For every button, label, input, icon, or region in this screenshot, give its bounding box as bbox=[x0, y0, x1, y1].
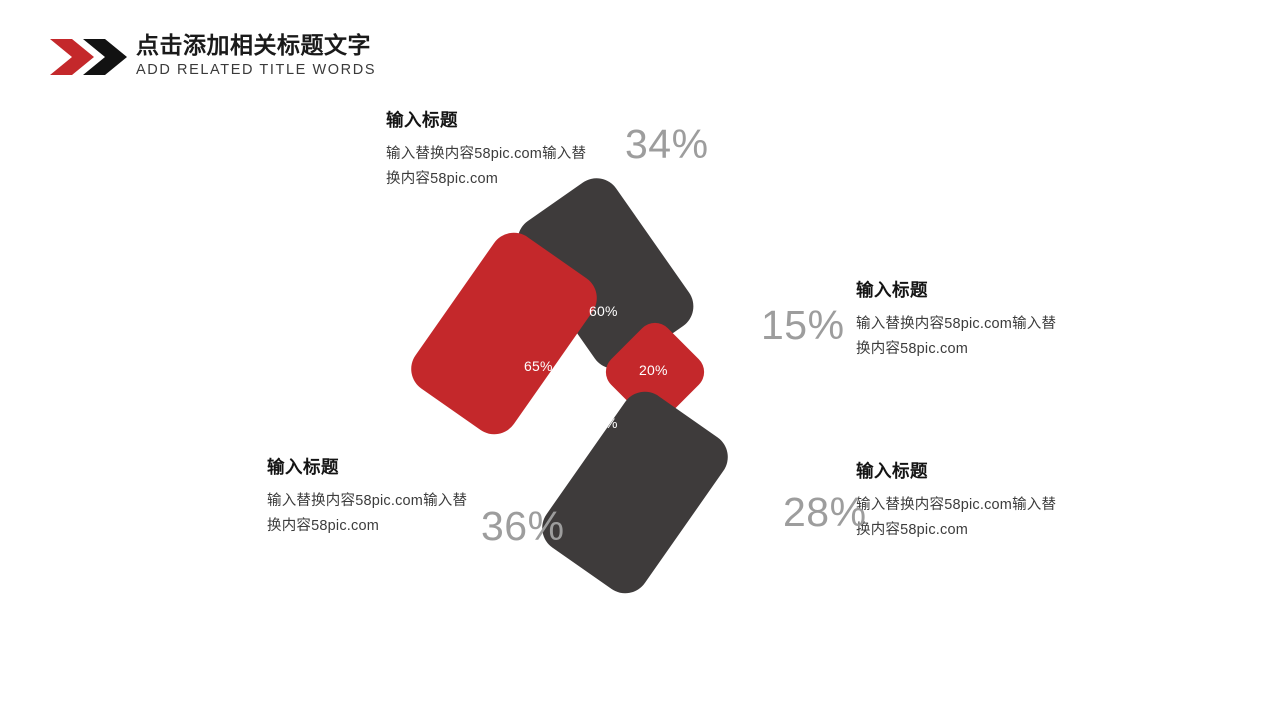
page-subtitle: ADD RELATED TITLE WORDS bbox=[136, 61, 376, 80]
info-block-top-left: 输入标题 输入替换内容58pic.com输入替换内容58pic.com bbox=[386, 110, 598, 192]
info-block-title: 输入标题 bbox=[386, 110, 598, 132]
info-block-title: 输入标题 bbox=[856, 280, 1068, 302]
shape-value-label-60: 60% bbox=[589, 303, 618, 319]
slide-header: 点击添加相关标题文字 ADD RELATED TITLE WORDS bbox=[50, 32, 376, 80]
percent-badge-36: 36% bbox=[481, 506, 565, 547]
info-block-body: 输入替换内容58pic.com输入替换内容58pic.com bbox=[386, 142, 598, 192]
info-block-title: 输入标题 bbox=[856, 461, 1068, 483]
info-block-body: 输入替换内容58pic.com输入替换内容58pic.com bbox=[856, 493, 1068, 543]
info-block-body: 输入替换内容58pic.com输入替换内容58pic.com bbox=[856, 312, 1068, 362]
double-chevron-icon bbox=[50, 35, 128, 79]
shape-dark-bottom[interactable] bbox=[533, 382, 737, 602]
percent-badge-15: 15% bbox=[761, 305, 845, 346]
info-block-bottom-left: 输入标题 输入替换内容58pic.com输入替换内容58pic.com bbox=[267, 457, 479, 539]
info-block-body: 输入替换内容58pic.com输入替换内容58pic.com bbox=[267, 489, 479, 539]
header-text-group: 点击添加相关标题文字 ADD RELATED TITLE WORDS bbox=[136, 32, 376, 80]
info-block-title: 输入标题 bbox=[267, 457, 479, 479]
info-block-bottom-right: 输入标题 输入替换内容58pic.com输入替换内容58pic.com bbox=[856, 461, 1068, 543]
percent-badge-34: 34% bbox=[625, 124, 709, 165]
shape-value-label-65: 65% bbox=[524, 358, 553, 374]
slide-canvas: 点击添加相关标题文字 ADD RELATED TITLE WORDS 60% 6… bbox=[0, 0, 1280, 720]
shape-value-label-20: 20% bbox=[639, 362, 668, 378]
page-title: 点击添加相关标题文字 bbox=[136, 32, 376, 59]
info-block-right-middle: 输入标题 输入替换内容58pic.com输入替换内容58pic.com bbox=[856, 280, 1068, 362]
shape-fill bbox=[533, 382, 737, 602]
shape-value-label-70: 70% bbox=[589, 415, 618, 431]
percent-badge-28: 28% bbox=[783, 492, 867, 533]
